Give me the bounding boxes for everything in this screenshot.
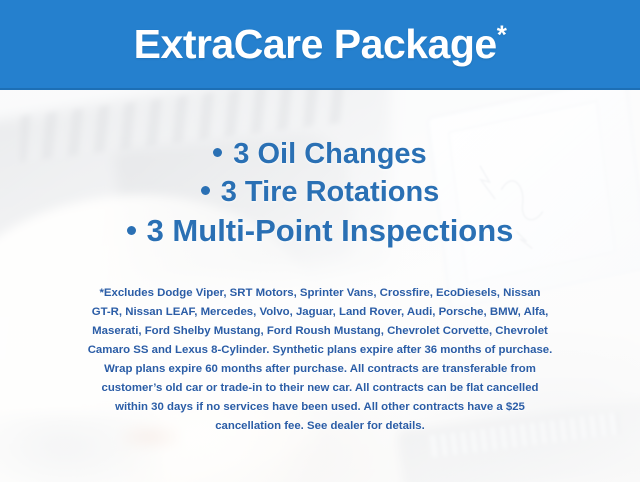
benefit-label: 3 Oil Changes: [233, 138, 426, 170]
benefit-label: 3 Multi-Point Inspections: [147, 213, 514, 248]
disclaimer-line: *Excludes Dodge Viper, SRT Motors, Sprin…: [26, 284, 614, 303]
benefits-list: 3 Oil Changes 3 Tire Rotations 3 Multi-P…: [0, 136, 640, 252]
extracare-package-ad: ExtraCare Package* 3 Oil Changes 3 Tire …: [0, 0, 640, 482]
disclaimer-line: customer’s old car or trade-in to their …: [26, 379, 614, 398]
bullet-dot-icon: [213, 148, 222, 157]
page-title-text: ExtraCare Package: [134, 21, 497, 67]
bullet-dot-icon: [201, 186, 210, 195]
benefit-item-tire-rotations: 3 Tire Rotations: [0, 174, 640, 212]
disclaimer-line: GT-R, Nissan LEAF, Mercedes, Volvo, Jagu…: [26, 303, 614, 322]
bullet-dot-icon: [127, 226, 136, 235]
benefit-item-oil-changes: 3 Oil Changes: [0, 136, 640, 174]
disclaimer-line: Wrap plans expire 60 months after purcha…: [26, 360, 614, 379]
disclaimer-line: within 30 days if no services have been …: [26, 398, 614, 417]
disclaimer-line: Maserati, Ford Shelby Mustang, Ford Rous…: [26, 322, 614, 341]
disclaimer-line: Camaro SS and Lexus 8-Cylinder. Syntheti…: [26, 341, 614, 360]
page-title-asterisk: *: [497, 19, 507, 49]
benefit-label: 3 Tire Rotations: [221, 176, 440, 208]
header-banner: ExtraCare Package*: [0, 0, 640, 90]
benefit-item-multi-point-inspections: 3 Multi-Point Inspections: [0, 211, 640, 251]
disclaimer-block: *Excludes Dodge Viper, SRT Motors, Sprin…: [26, 284, 614, 436]
disclaimer-line: cancellation fee. See dealer for details…: [26, 417, 614, 436]
page-title: ExtraCare Package*: [134, 24, 507, 65]
